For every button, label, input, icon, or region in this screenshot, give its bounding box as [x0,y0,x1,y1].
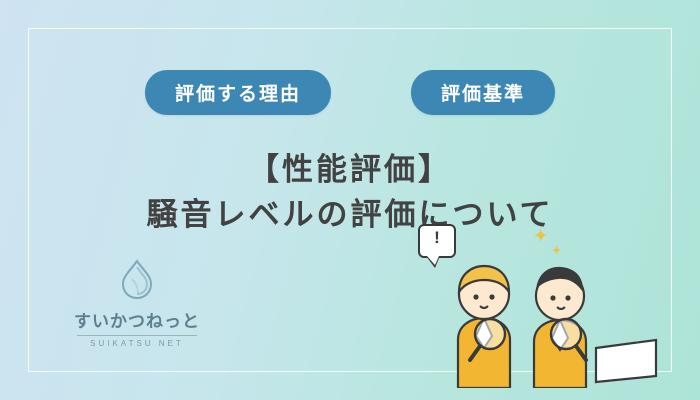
speech-bubble: ! [418,224,456,258]
logo-name: すいかつねっと [62,307,212,332]
pill-criteria: 評価基準 [411,70,555,115]
logo-divider [77,335,197,336]
banner-canvas: 評価する理由 評価基準 【性能評価】 騒音レベルの評価について すいかつねっと … [0,0,700,400]
title-line-1: 【性能評価】 [0,148,700,193]
speech-bubble-text: ! [420,229,454,246]
logo-romaji: SUIKATSU NET [62,339,212,348]
water-drop-icon [114,257,160,303]
illustration: ! ✦ ✦ [416,218,666,388]
sparkle-icon-small: ✦ [552,244,561,257]
sparkle-icon: ✦ [534,226,547,246]
pill-row: 評価する理由 評価基準 [0,70,700,115]
site-logo: すいかつねっと SUIKATSU NET [62,257,212,348]
pill-reason: 評価する理由 [145,70,331,115]
